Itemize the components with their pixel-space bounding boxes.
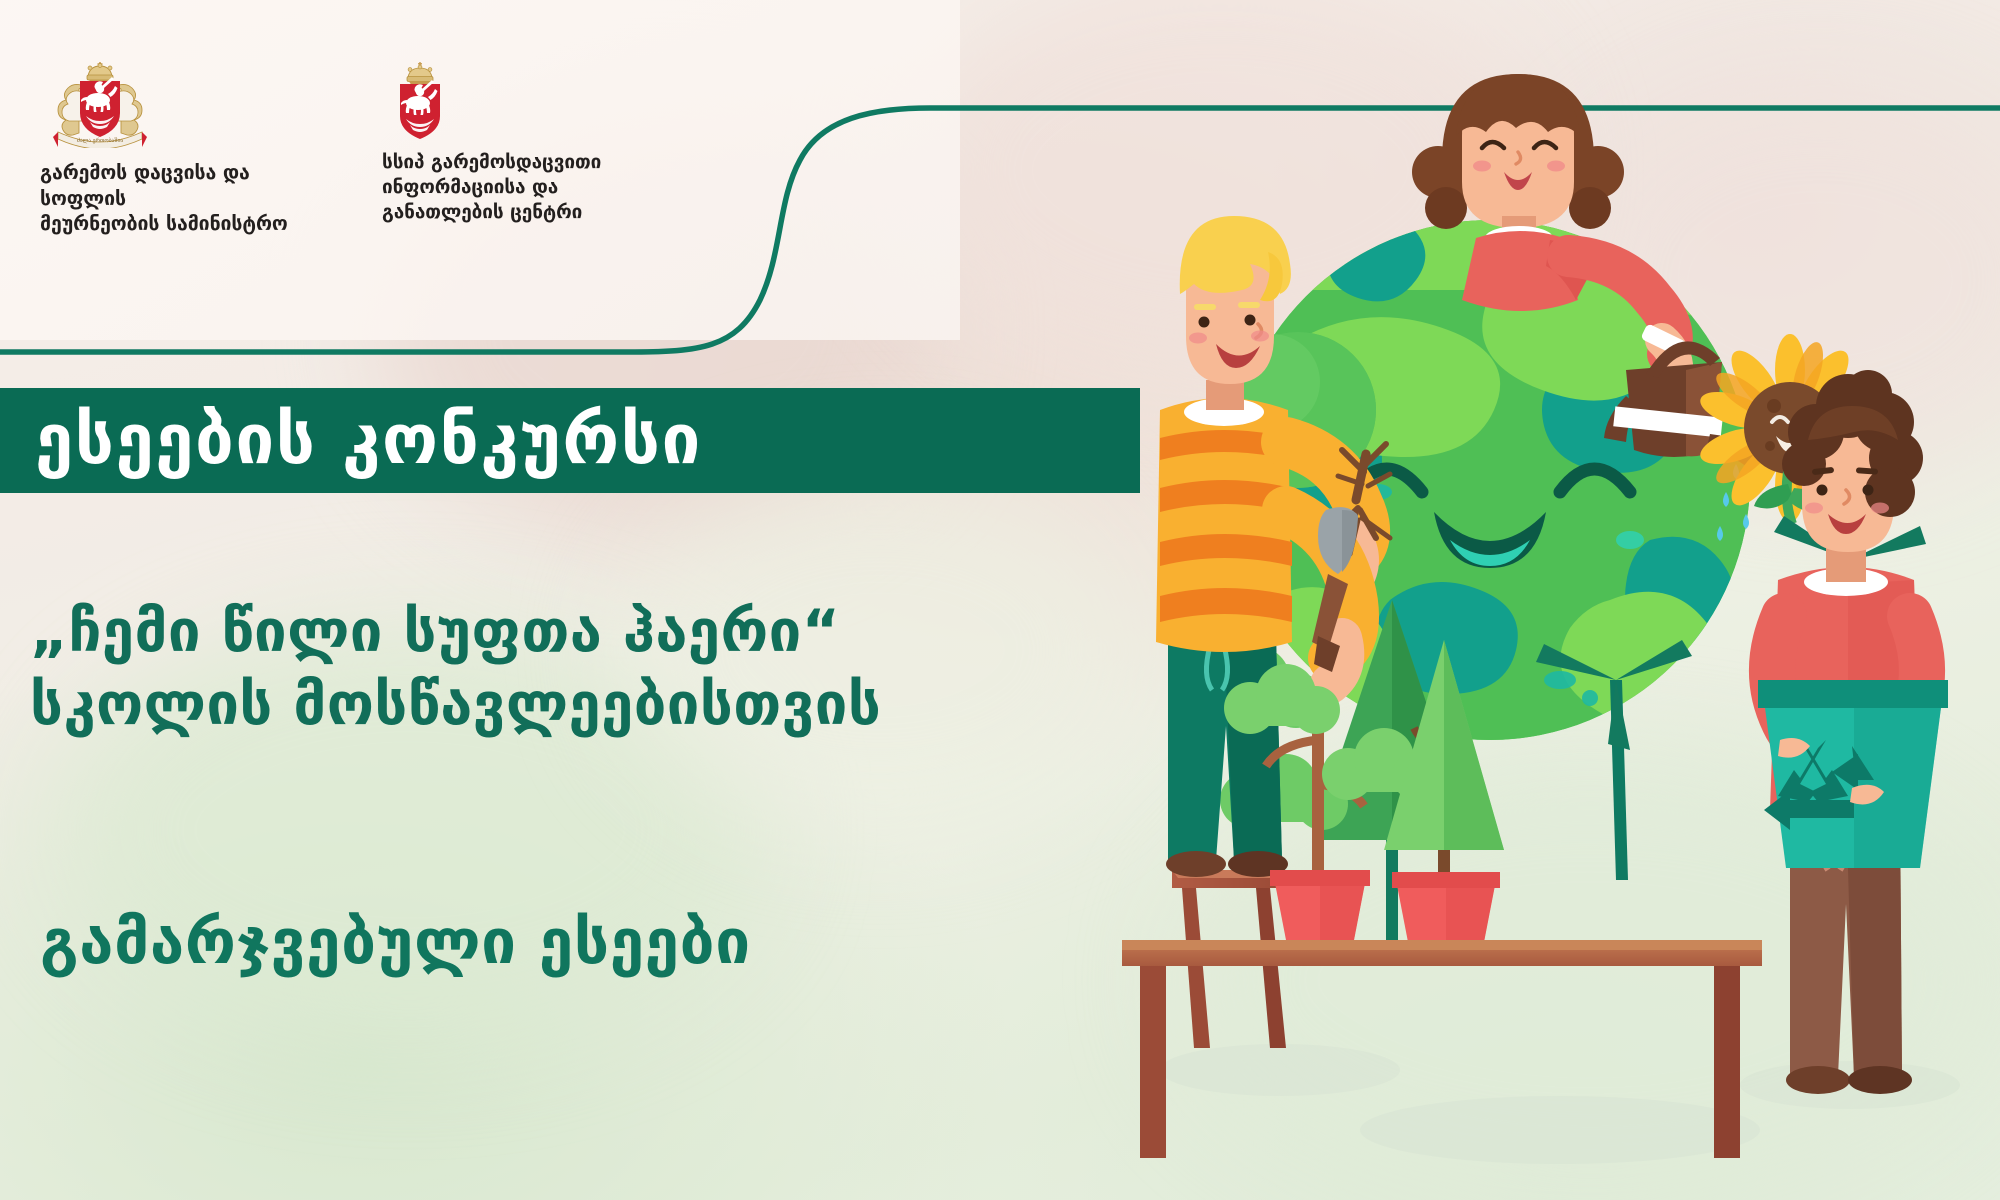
- page-title: ესეების კონკურსი: [35, 406, 702, 475]
- recycling-bin-icon: [1758, 680, 1948, 868]
- georgia-small-coat-of-arms-icon: [386, 58, 454, 142]
- georgia-state-coat-of-arms-icon: ძალა ერთობაშია: [40, 56, 160, 148]
- ground-shadow: [1360, 1096, 1760, 1164]
- crest-wrap: ძალა ერთობაშია: [40, 56, 340, 148]
- subtitle-line-2: სკოლის მოსწავლეებისთვის: [30, 668, 1210, 741]
- crest-wrap: [382, 58, 662, 142]
- ground-shadow: [1740, 1061, 1960, 1109]
- footer-headline: გამარჯვებული ესეები: [40, 905, 751, 978]
- svg-text:ძალა ერთობაშია: ძალა ერთობაშია: [77, 137, 124, 144]
- logo-ministry-name: გარემოს დაცვისა და სოფლის მეურნეობის სამ…: [40, 160, 340, 237]
- logo-eiec: სსიპ გარემოსდაცვითი ინფორმაციისა და განა…: [382, 58, 662, 225]
- logo-ministry: ძალა ერთობაშია გარემოს დაცვისა და სოფლის…: [40, 56, 340, 237]
- ground-shadow: [1160, 1044, 1400, 1096]
- logo-eiec-name: სსიპ გარემოსდაცვითი ინფორმაციისა და განა…: [382, 150, 662, 225]
- poster-root: ძალა ერთობაშია გარემოს დაცვისა და სოფლის…: [0, 0, 2000, 1200]
- children-planting-earth-illustration: [1090, 40, 2000, 1200]
- title-band: ესეების კონკურსი: [0, 388, 1140, 493]
- subtitle-line-1: „ჩემი წილი სუფთა ჰაერი“: [30, 595, 1210, 668]
- subtitle-block: „ჩემი წილი სუფთა ჰაერი“ სკოლის მოსწავლეე…: [30, 595, 1210, 741]
